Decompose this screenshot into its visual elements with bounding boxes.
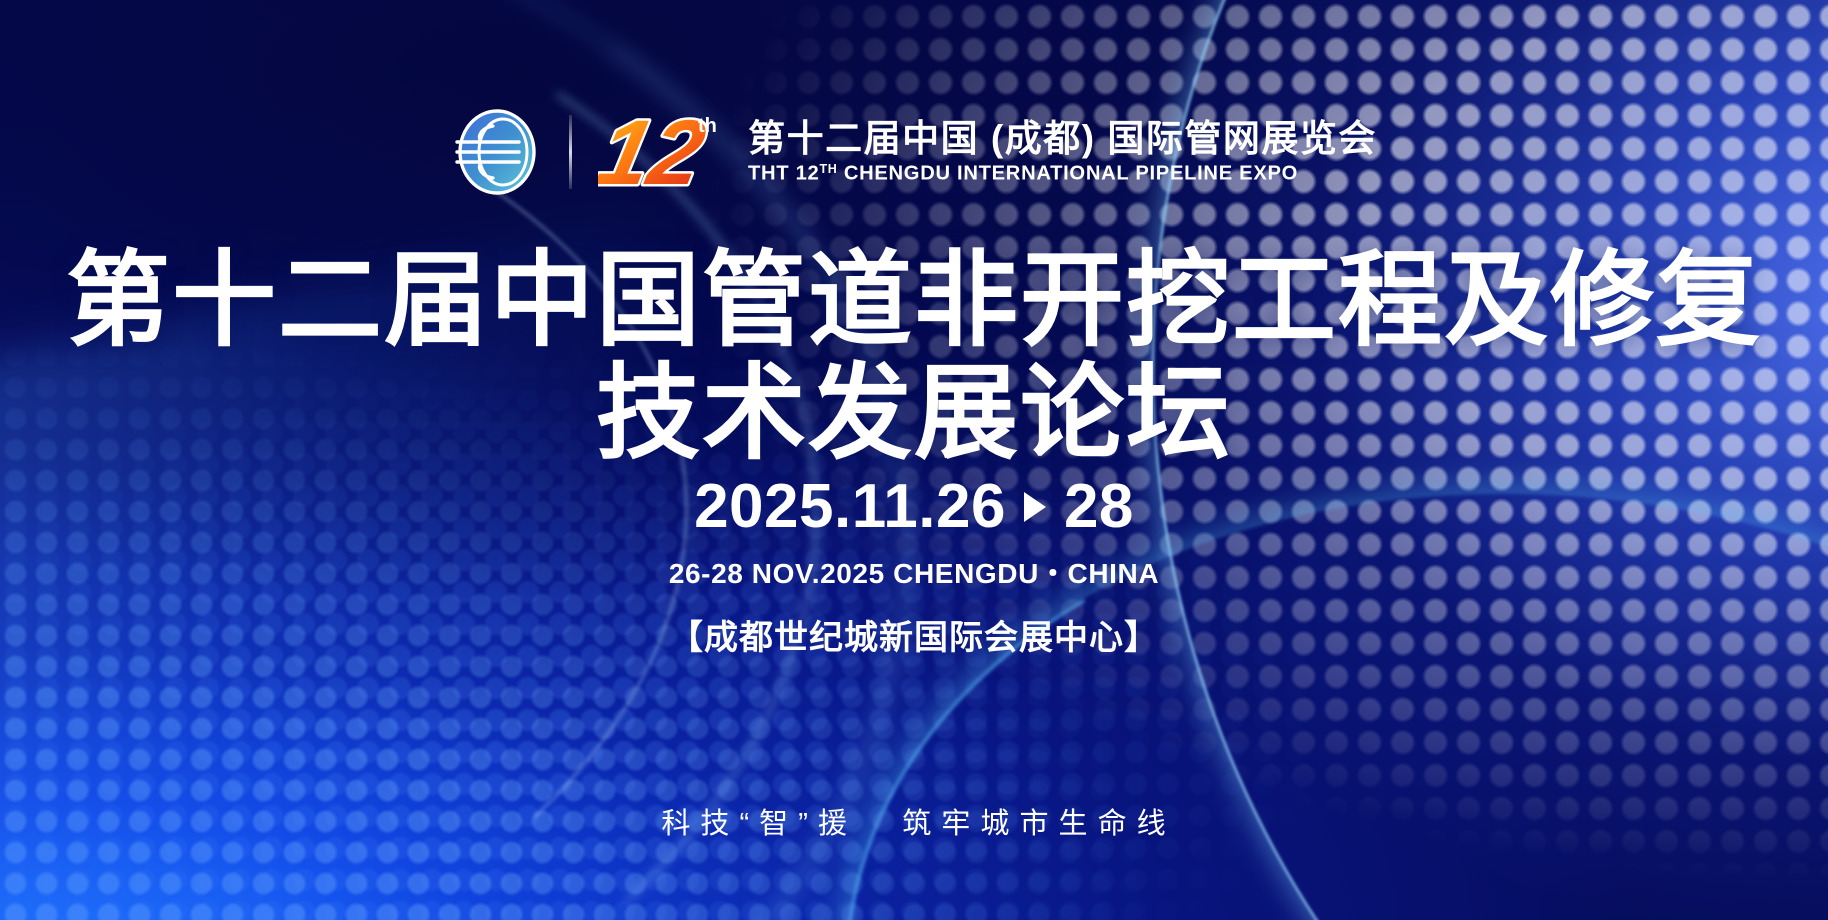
event-date-english: 26-28 NOV.2025 CHENGDU・CHINA	[0, 552, 1828, 592]
main-title-line-2: 技术发展论坛	[0, 358, 1828, 471]
event-slogan: 科 技 “ 智 ” 援 筑 牢 城 市 生 命 线	[0, 800, 1828, 842]
logo-lockup: 12 th 第十二届中国 (成都) 国际管网展览会 THT 12TH CHENG…	[0, 104, 1828, 200]
logo-divider-icon	[569, 115, 572, 189]
expo-poster: 12 th 第十二届中国 (成都) 国际管网展览会 THT 12TH CHENG…	[0, 0, 1828, 920]
logo-title-cn: 第十二届中国 (成都) 国际管网展览会	[748, 120, 1377, 159]
logo-title-en: THT 12TH CHENGDU INTERNATIONAL PIPELINE …	[748, 162, 1367, 184]
main-title: 第十二届中国管道非开挖工程及修复 技术发展论坛	[0, 245, 1828, 472]
logo-title-en-prefix: THT 12	[748, 161, 819, 184]
svg-text:12: 12	[598, 106, 713, 198]
edition-number-12th-icon: 12 th	[598, 106, 726, 198]
poster-content: 12 th 第十二届中国 (成都) 国际管网展览会 THT 12TH CHENG…	[0, 0, 1828, 920]
event-date-row: 2025.11.26 28	[0, 470, 1828, 544]
pipeline-globe-emblem-icon	[451, 104, 543, 200]
event-venue: 【成都世纪城新国际会展中心】	[0, 610, 1828, 659]
logo-text-block: 第十二届中国 (成都) 国际管网展览会 THT 12TH CHENGDU INT…	[748, 120, 1377, 184]
logo-title-en-sup: TH	[820, 161, 838, 176]
event-date-start: 2025.11.26	[694, 470, 1006, 544]
date-venue-block: 2025.11.26 28 26-28 NOV.2025 CHENGDU・CHI…	[0, 470, 1828, 659]
event-date-end: 28	[1064, 470, 1134, 544]
play-arrow-icon	[1024, 492, 1046, 522]
logo-title-en-rest: CHENGDU INTERNATIONAL PIPELINE EXPO	[838, 161, 1299, 184]
svg-text:th: th	[698, 115, 717, 137]
main-title-line-1: 第十二届中国管道非开挖工程及修复	[0, 245, 1828, 358]
